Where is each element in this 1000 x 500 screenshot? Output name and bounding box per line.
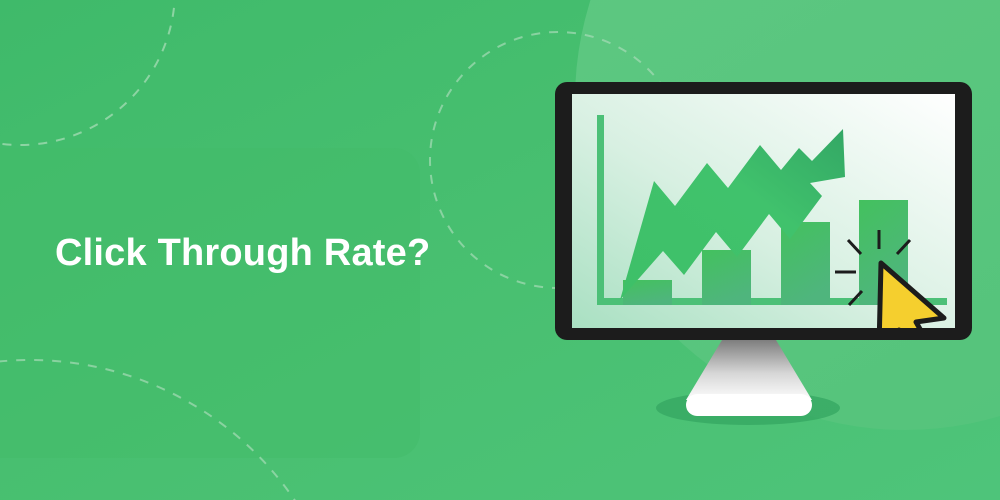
- banner: Click Through Rate?: [0, 0, 1000, 500]
- soft-rounded-rect-left: [0, 148, 420, 458]
- page-title: Click Through Rate?: [55, 234, 430, 272]
